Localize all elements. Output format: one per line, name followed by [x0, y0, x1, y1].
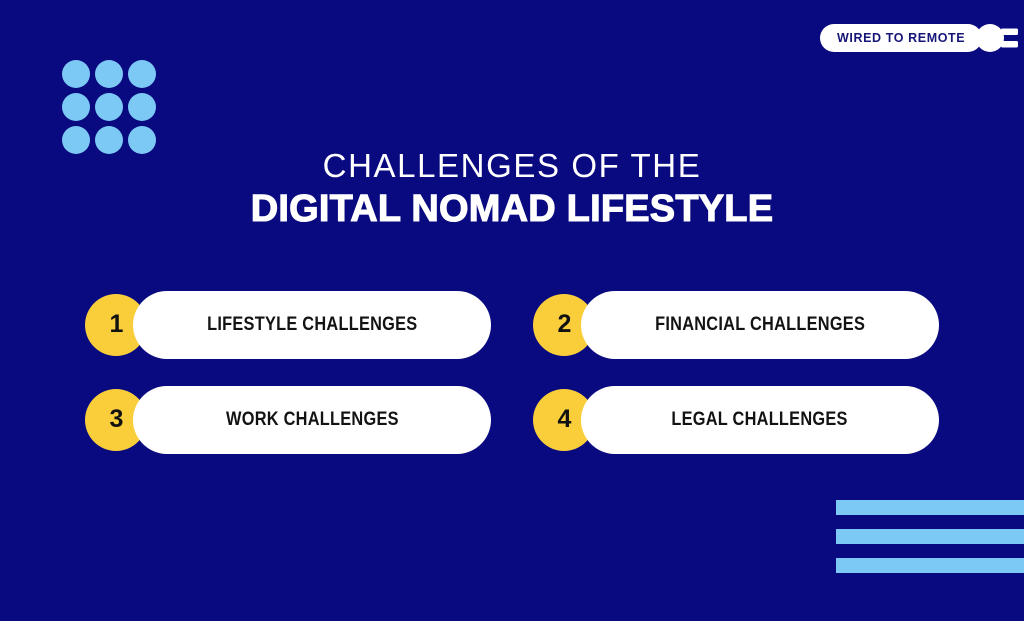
- brand-logo: WIRED TO REMOTE: [820, 21, 1002, 55]
- card-label: WORK CHALLENGES: [226, 409, 399, 431]
- card-number: 4: [558, 407, 572, 432]
- challenge-card-4[interactable]: 4 LEGAL CHALLENGES: [533, 386, 939, 454]
- brand-logo-text: WIRED TO REMOTE: [837, 32, 965, 45]
- card-number: 2: [558, 312, 572, 337]
- card-number: 1: [110, 312, 124, 337]
- challenge-card-3[interactable]: 3 WORK CHALLENGES: [85, 386, 491, 454]
- challenge-card-2[interactable]: 2 FINANCIAL CHALLENGES: [533, 291, 939, 359]
- card-label: LIFESTYLE CHALLENGES: [207, 314, 417, 336]
- card-pill[interactable]: FINANCIAL CHALLENGES: [581, 291, 939, 359]
- brand-logo-pill: WIRED TO REMOTE: [820, 24, 982, 52]
- card-number: 3: [110, 407, 124, 432]
- stripe-bar: [836, 500, 1024, 515]
- infographic-slide: WIRED TO REMOTE CHALLENGES OF THE DIGITA…: [0, 0, 1024, 621]
- stripe-bars: [836, 500, 1024, 575]
- card-pill[interactable]: LIFESTYLE CHALLENGES: [133, 291, 491, 359]
- card-pill[interactable]: WORK CHALLENGES: [133, 386, 491, 454]
- card-pill[interactable]: LEGAL CHALLENGES: [581, 386, 939, 454]
- challenge-card-1[interactable]: 1 LIFESTYLE CHALLENGES: [85, 291, 491, 359]
- card-label: FINANCIAL CHALLENGES: [655, 314, 865, 336]
- stripe-bar: [836, 558, 1024, 573]
- stripe-bar: [836, 529, 1024, 544]
- card-label: LEGAL CHALLENGES: [672, 409, 848, 431]
